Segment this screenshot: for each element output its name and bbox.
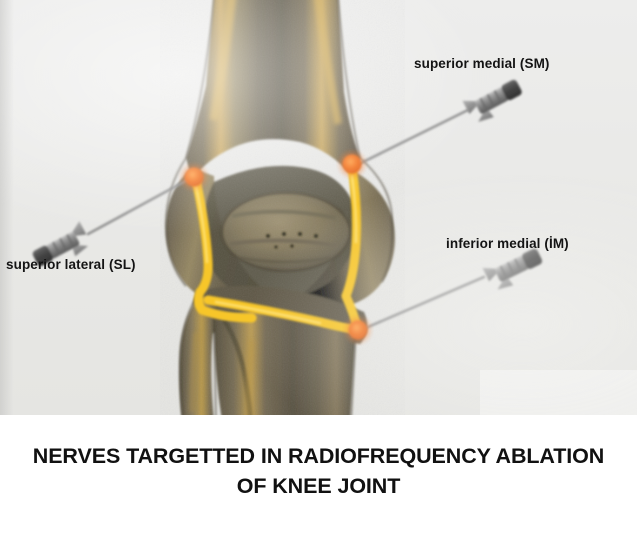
anatomy-photo: superior medial (SM) superior lateral (S…: [0, 0, 637, 415]
caption-line-1: NERVES TARGETTED IN RADIOFREQUENCY ABLAT…: [33, 441, 604, 471]
figure-caption: NERVES TARGETTED IN RADIOFREQUENCY ABLAT…: [0, 415, 637, 551]
knee-rfa-figure: superior medial (SM) superior lateral (S…: [0, 0, 637, 551]
label-superior-medial: superior medial (SM): [414, 56, 550, 71]
paper-left-edge: [0, 0, 14, 415]
label-inferior-medial: inferior medial (İM): [446, 236, 569, 251]
label-superior-lateral: superior lateral (SL): [6, 257, 136, 272]
caption-line-2: OF KNEE JOINT: [237, 471, 401, 501]
paper-seam-panel: [480, 370, 637, 415]
